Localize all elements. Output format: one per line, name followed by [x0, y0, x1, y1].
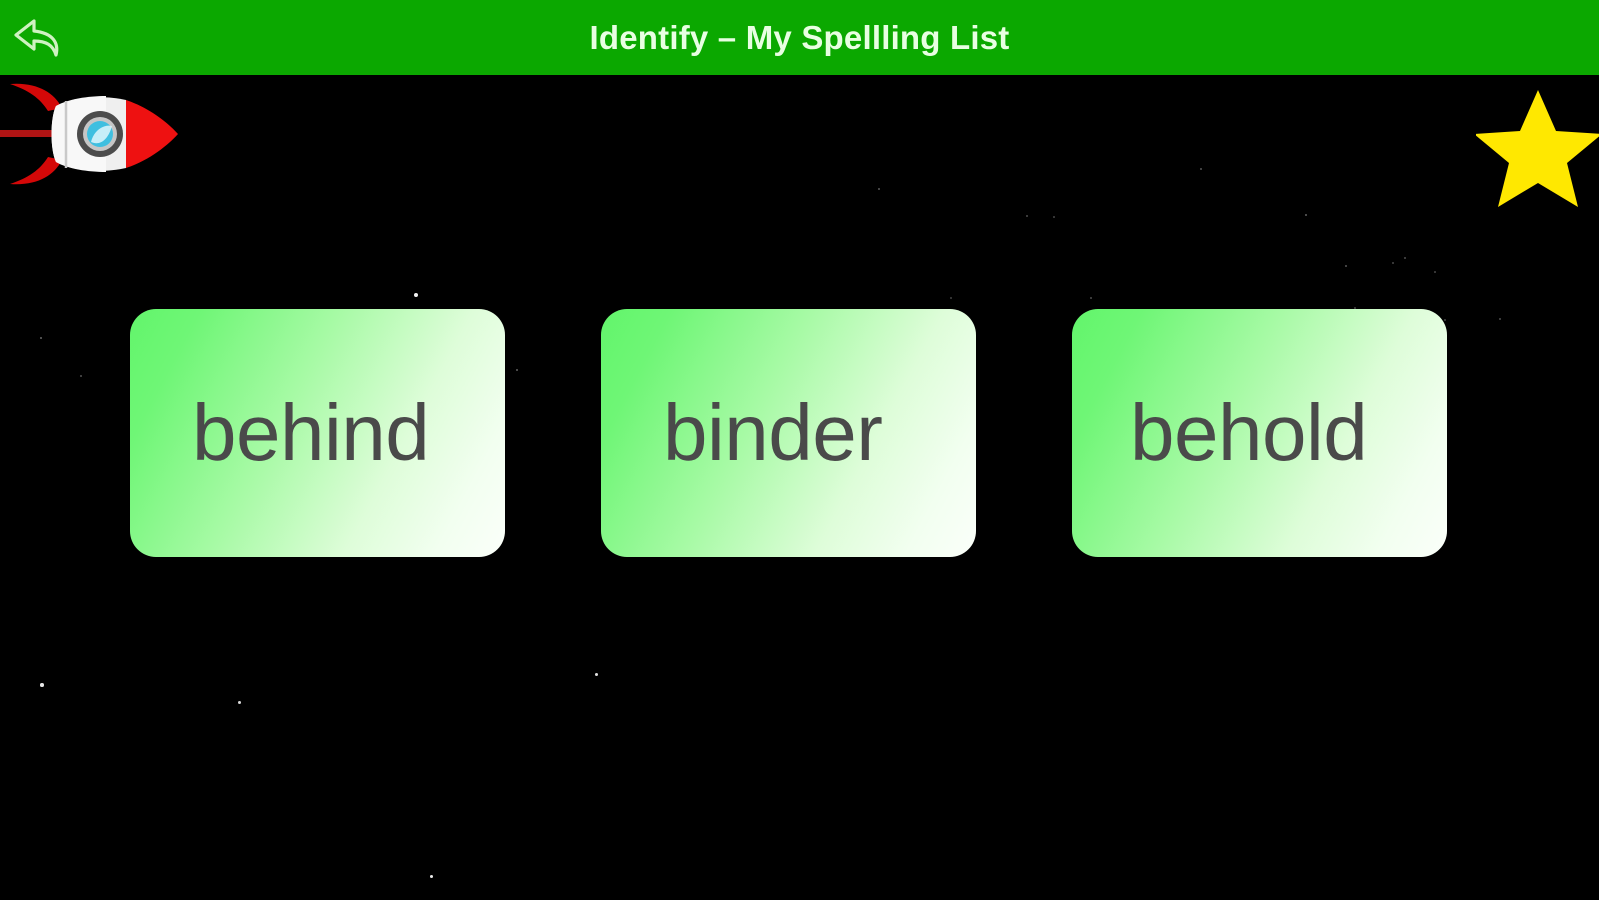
app-header: Identify – My Spellling List — [0, 0, 1599, 75]
star-icon — [1476, 86, 1599, 210]
rocket-graphic — [0, 78, 188, 190]
word-card-option-3[interactable]: behold — [1072, 309, 1447, 557]
identify-game-screen: Identify – My Spellling List — [0, 0, 1599, 900]
rocket-icon[interactable] — [0, 78, 188, 190]
undo-arrow-icon — [6, 8, 72, 68]
word-card-label: binder — [601, 393, 882, 473]
word-choices: behind binder behold — [0, 0, 1599, 900]
word-card-option-1[interactable]: behind — [130, 309, 505, 557]
word-card-option-2[interactable]: binder — [601, 309, 976, 557]
word-card-label: behold — [1072, 393, 1367, 473]
word-card-label: behind — [130, 393, 429, 473]
back-button[interactable] — [6, 8, 72, 68]
reward-star-badge — [1476, 86, 1599, 210]
page-title: Identify – My Spellling List — [0, 0, 1599, 75]
